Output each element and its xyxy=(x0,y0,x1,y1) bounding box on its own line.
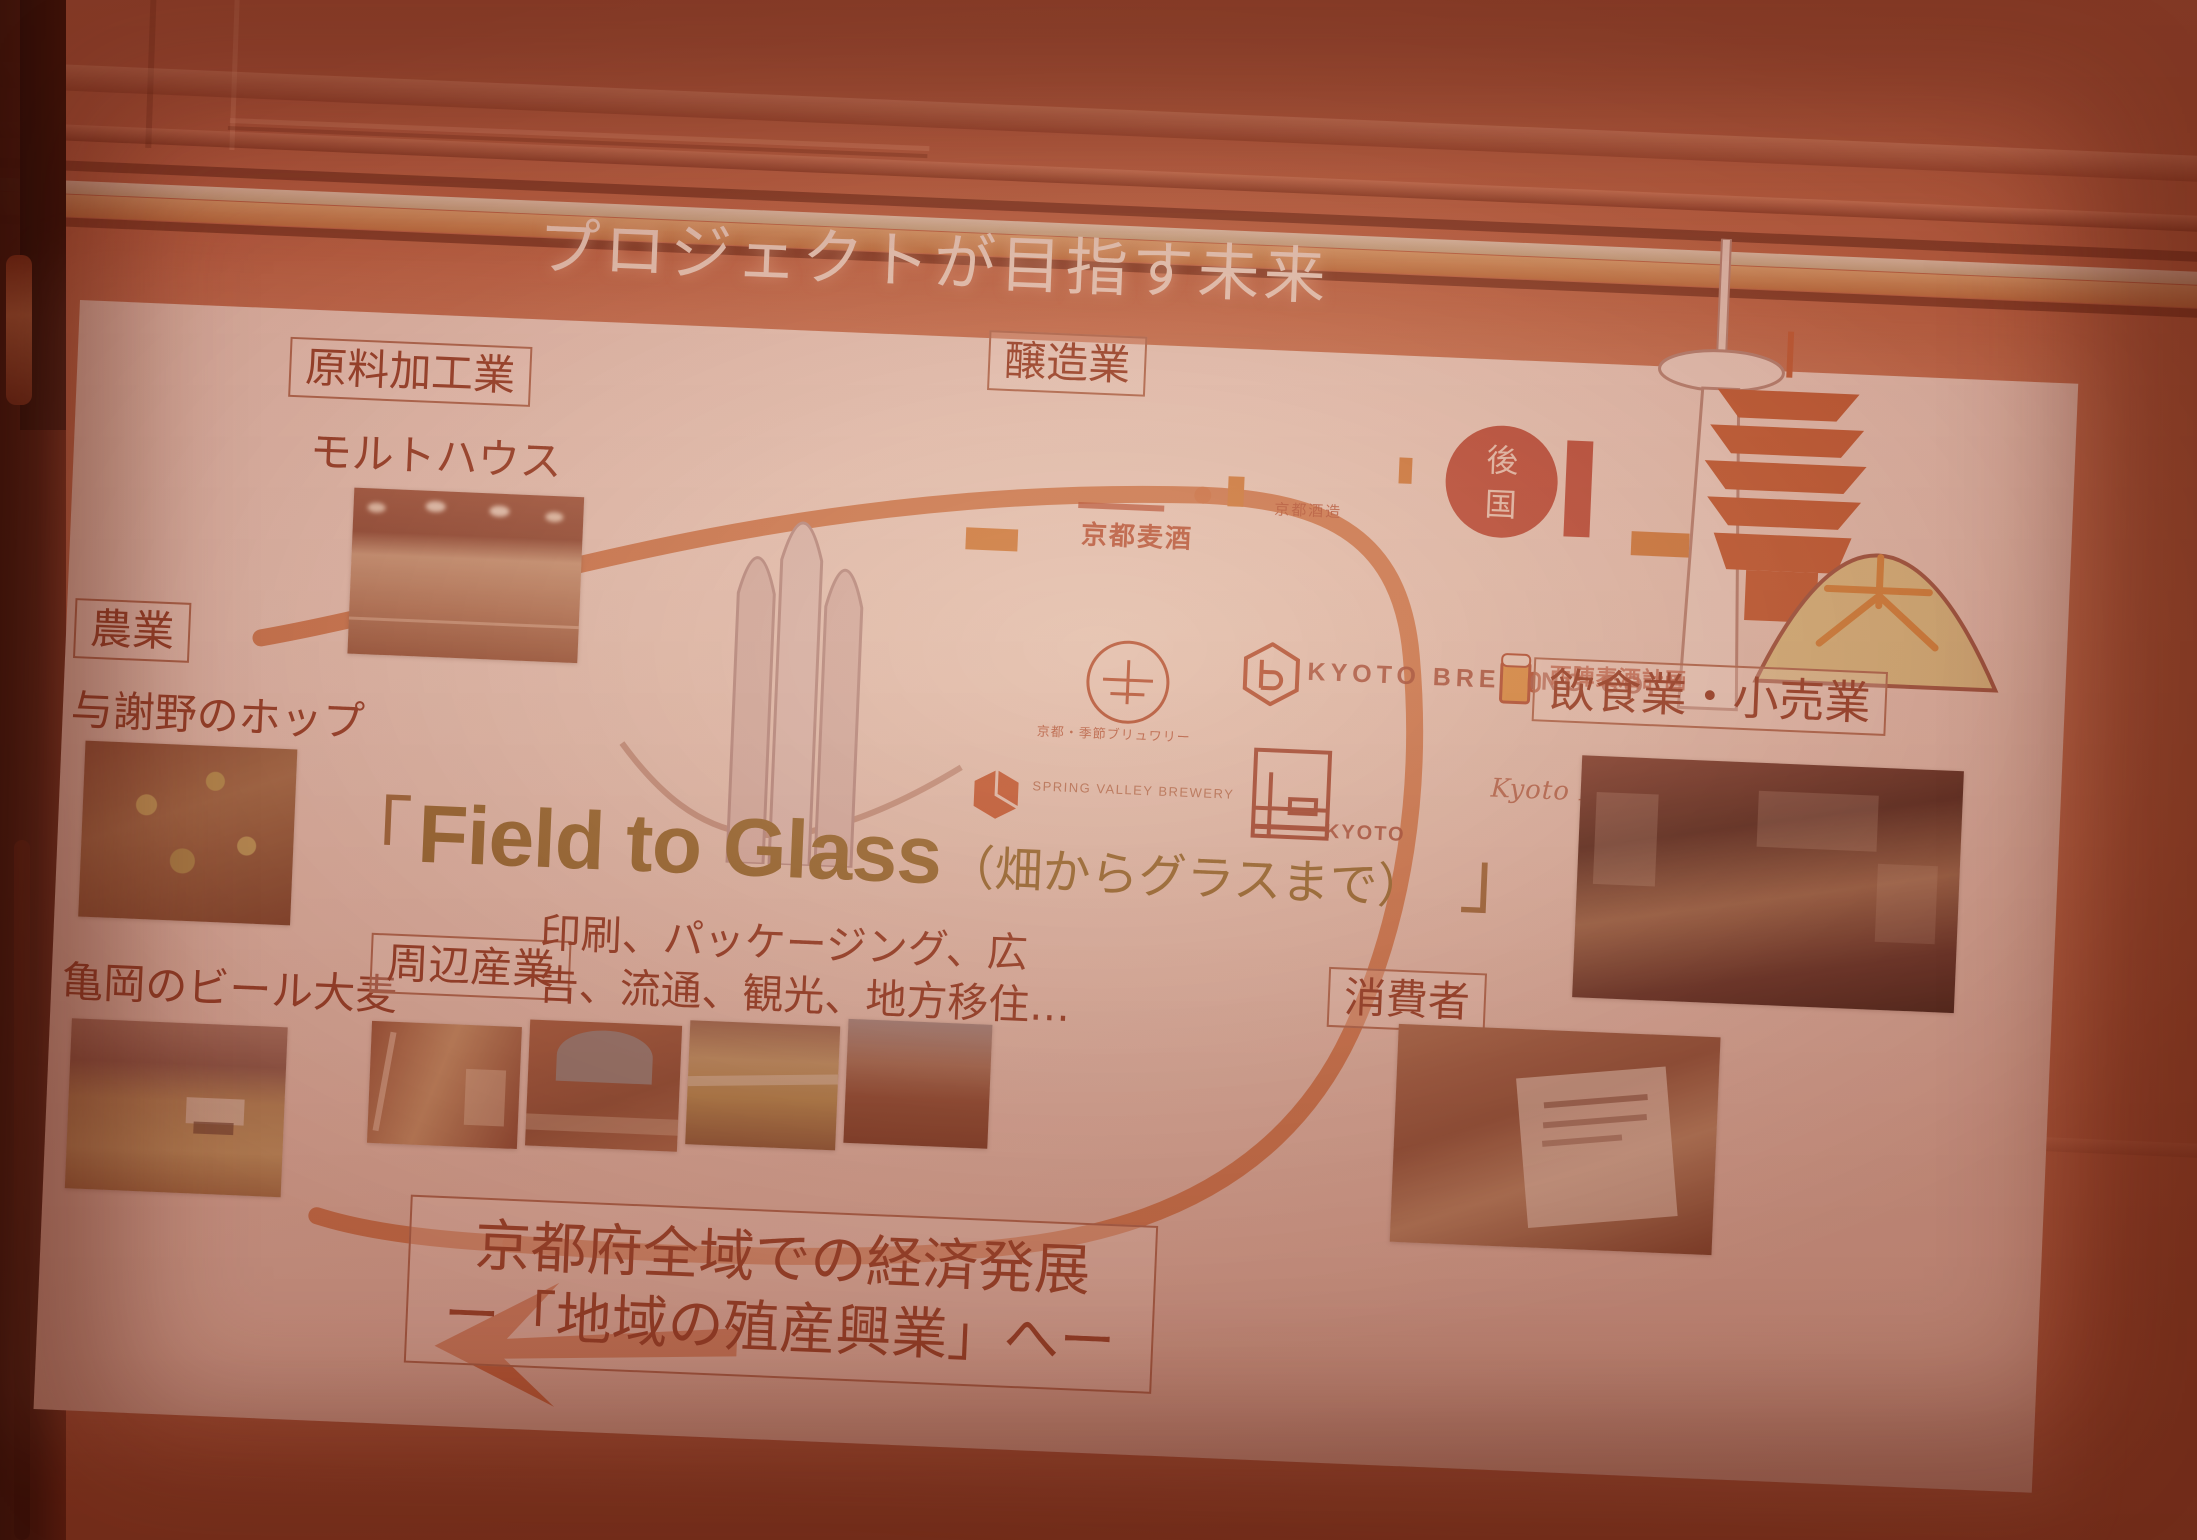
photo-malt-house-interior xyxy=(347,488,584,663)
curtain-rope xyxy=(14,840,30,1540)
headline-english: Field to Glass xyxy=(416,788,943,904)
label-kameoka-barley: 亀岡のビール大麦 xyxy=(60,948,398,1023)
screenshot-stage: プロジェクトが目指す未来 xyxy=(0,0,2197,1540)
photo-taproom-bar xyxy=(1572,755,1964,1013)
logo-kyoto-shuzo: 京都酒造 xyxy=(1274,498,1343,522)
photo-rural-migration xyxy=(843,1019,992,1149)
photo-printing-press xyxy=(367,1021,522,1149)
label-yosano-hops: 与謝野のホップ xyxy=(70,676,366,749)
logo-kyoto-brewing-hex xyxy=(1240,641,1303,707)
projected-slide-canvas: 京都麦酒 京都酒造 後 国 京都・季節ブリュワリー xyxy=(34,300,2079,1493)
headline-bracket-close: 」 xyxy=(1458,816,1541,931)
peripheral-detail: 印刷、パッケージング、広 告、流通、観光、地方移住… xyxy=(537,908,1074,1034)
label-raw-material-processing: 原料加工業 xyxy=(288,337,532,407)
label-malt-house: モルトハウス xyxy=(309,418,563,489)
logo-accent-block-2 xyxy=(1227,476,1244,507)
bottom-callout-economic-development: 京都府全域での経済発展 ー「地域の殖産興業」へー xyxy=(404,1195,1158,1394)
curtain-tassel xyxy=(6,255,32,405)
logo-spring-valley-brewery: SPRING VALLEY BREWERY xyxy=(1032,778,1234,801)
logo-accent-block-1 xyxy=(965,527,1018,551)
photo-hop-field-yosano xyxy=(78,741,297,926)
photo-tourism-landscape xyxy=(685,1020,840,1150)
photo-barley-harvest-kameoka xyxy=(65,1018,288,1197)
svg-text:後: 後 xyxy=(1486,441,1520,480)
logo-kyoto-bakushu-bar xyxy=(1078,502,1164,512)
photo-consumer-tasting xyxy=(1390,1024,1721,1255)
label-brewing-industry: 醸造業 xyxy=(987,330,1147,397)
photo-packaging xyxy=(525,1019,682,1151)
svg-text:国: 国 xyxy=(1484,485,1518,524)
logo-accent-block-3 xyxy=(1398,457,1412,484)
logo-kyoto-bakushu: 京都麦酒 xyxy=(1080,514,1193,556)
logo-accent-block-4 xyxy=(1631,531,1690,557)
headline-japanese-gloss: （畑からグラスまで） xyxy=(945,828,1427,918)
headline-bracket-open: 「 xyxy=(332,769,415,884)
logo-seal-stamp: 後 国 xyxy=(1436,417,1622,574)
label-agriculture: 農業 xyxy=(73,598,191,663)
